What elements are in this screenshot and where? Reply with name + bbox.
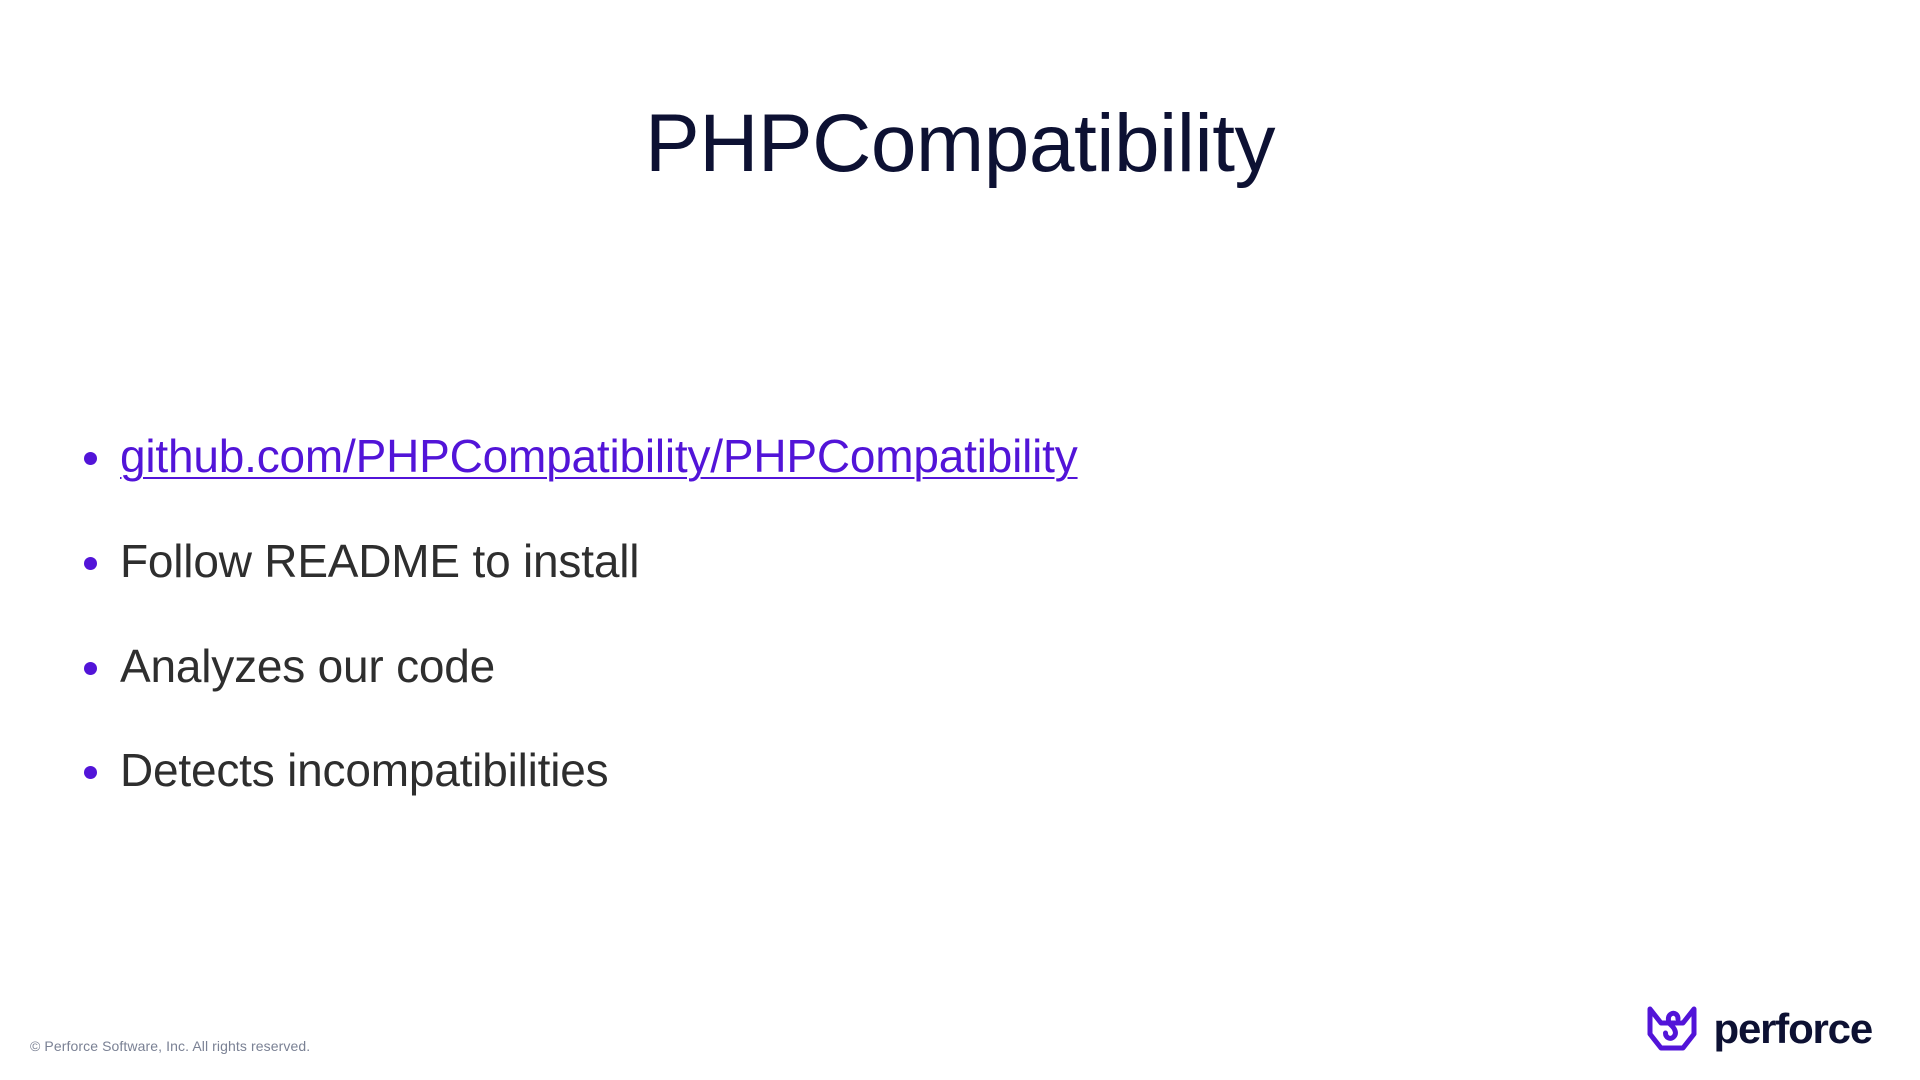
bullet-dot-icon [84,557,97,570]
list-item: Analyzes our code [78,642,1578,691]
slide-canvas: PHPCompatibility github.com/PHPCompatibi… [0,0,1920,1080]
perforce-logo: perforce [1644,1004,1872,1054]
bullet-dot-icon [84,452,97,465]
perforce-logo-mark-icon [1644,1004,1700,1054]
page-title: PHPCompatibility [0,103,1920,185]
list-item: Detects incompatibilities [78,746,1578,795]
bullet-dot-icon [84,766,97,779]
bullet-dot-icon [84,662,97,675]
list-item: github.com/PHPCompatibility/PHPCompatibi… [78,432,1578,481]
list-item-label: Detects incompatibilities [120,744,608,796]
list-item-label: Follow README to install [120,535,639,587]
github-repo-link[interactable]: github.com/PHPCompatibility/PHPCompatibi… [120,430,1078,482]
bullet-list: github.com/PHPCompatibility/PHPCompatibi… [78,432,1578,795]
list-item-label: Analyzes our code [120,640,495,692]
perforce-wordmark: perforce [1714,1008,1872,1050]
copyright-notice: © Perforce Software, Inc. All rights res… [30,1038,310,1054]
list-item: Follow README to install [78,537,1578,586]
